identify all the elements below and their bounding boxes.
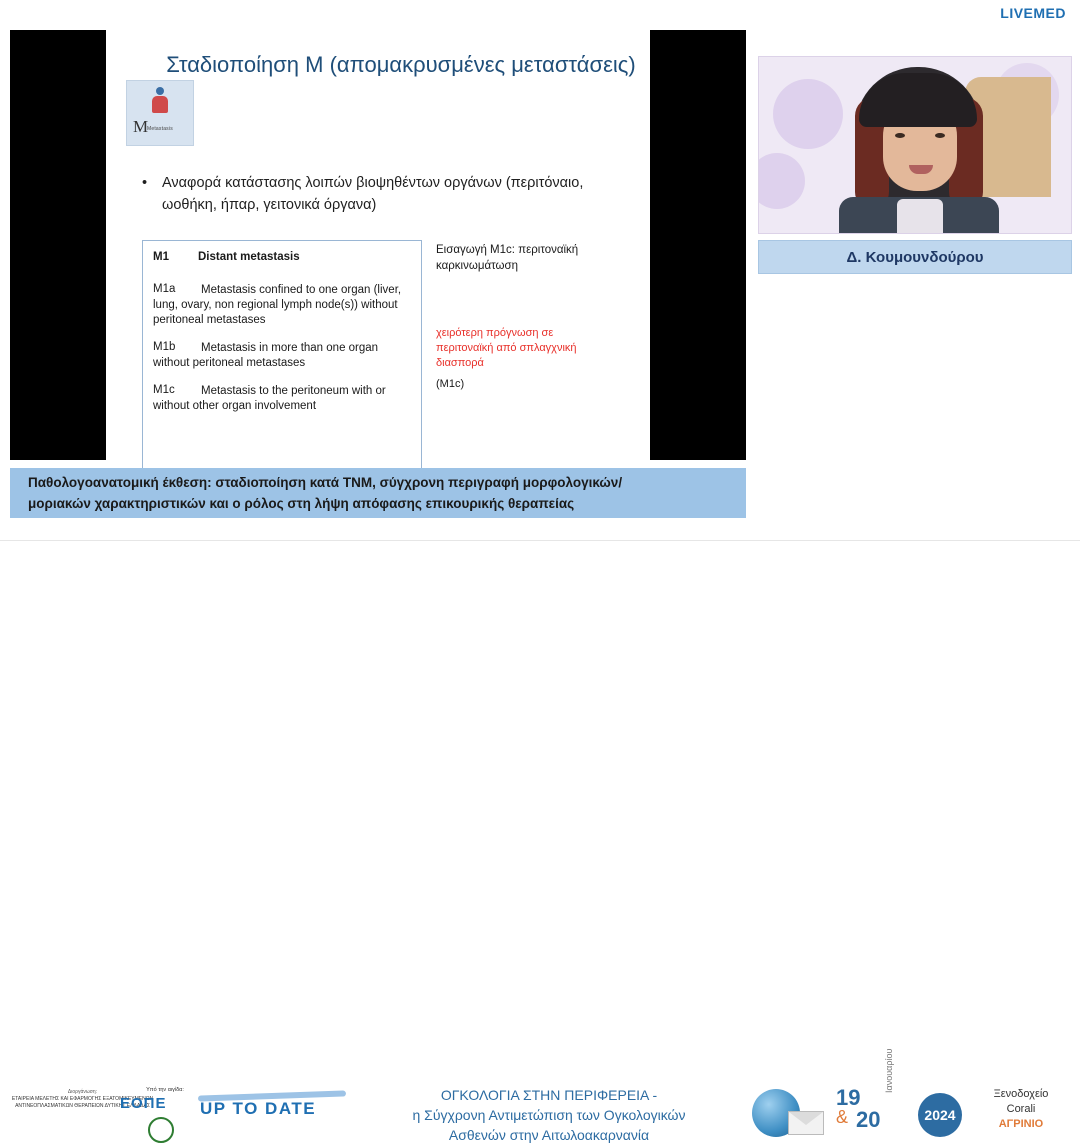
app-root: LIVEMED Σταδιοποίηση Μ (απομακρυσμένες μ…	[0, 0, 1080, 608]
top-bar: LIVEMED	[0, 0, 1080, 26]
row-text-m1b: Metastasis in more than one organ withou…	[153, 341, 411, 371]
badge-letter: M	[133, 117, 148, 137]
badge-sublabel: Metastasis	[147, 126, 173, 132]
slide-viewport: Σταδιοποίηση Μ (απομακρυσμένες μεταστάσε…	[10, 30, 746, 460]
event-brand: UP TO DATE	[200, 1099, 316, 1119]
metastasis-icon: M Metastasis	[126, 80, 194, 146]
sidenote-prognosis: χειρότερη πρόγνωση σε περιτοναϊκή από σπ…	[436, 326, 596, 371]
bullet-text: Αναφορά κατάστασης λοιπών βιοψηθέντων ορ…	[162, 172, 612, 216]
slide-content: Σταδιοποίηση Μ (απομακρυσμένες μεταστάσε…	[106, 30, 650, 460]
eope-logo: ΕΟΠΕ	[120, 1095, 167, 1112]
venue-line-1: Ξενοδοχείο	[968, 1087, 1074, 1102]
event-title-line-3: Ασθενών στην Αιτωλοακαρνανία	[356, 1125, 742, 1145]
event-title-line-2: η Σύγχρονη Αντιμετώπιση των Ογκολογικών	[356, 1105, 742, 1125]
venue-city: ΑΓΡΙΝΙΟ	[968, 1117, 1074, 1132]
aegis-seal-icon	[148, 1117, 174, 1143]
date-ampersand: &	[836, 1107, 848, 1128]
footer-bar: Διοργάνωση: ΕΤΑΙΡΕΙΑ ΜΕΛΕΤΗΣ ΚΑΙ ΕΦΑΡΜΟΓ…	[0, 540, 1080, 609]
venue-block: Ξενοδοχείο Corali ΑΓΡΙΝΙΟ	[968, 1087, 1074, 1132]
row-text-m1c: Metastasis to the peritoneum with or wit…	[153, 384, 411, 414]
event-title: ΟΓΚΟΛΟΓΙΑ ΣΤΗΝ ΠΕΡΙΦΕΡΕΙΑ - η Σύγχρονη Α…	[356, 1085, 742, 1145]
bullet-marker: •	[142, 172, 147, 194]
livemed-logo: LIVEMED	[1000, 5, 1066, 21]
table-header-text: Distant metastasis	[198, 251, 300, 263]
event-title-line-1: ΟΓΚΟΛΟΓΙΑ ΣΤΗΝ ΠΕΡΙΦΕΡΕΙΑ -	[356, 1085, 742, 1105]
session-caption: Παθολογοανατομική έκθεση: σταδιοποίηση κ…	[10, 468, 746, 518]
person-icon	[151, 87, 169, 117]
staging-table: M1 Distant metastasis M1a Metastasis con…	[142, 240, 422, 470]
date-day-to: 20	[856, 1107, 880, 1133]
speaker-name: Δ. Κουμουνδούρου	[846, 249, 983, 266]
table-header-code: M1	[153, 251, 169, 263]
venue-line-2: Corali	[968, 1102, 1074, 1117]
slide-bullet: • Αναφορά κατάστασης λοιπών βιοψηθέντων …	[142, 172, 612, 216]
speaker-video[interactable]	[758, 56, 1072, 234]
sidenote-tail: (M1c)	[436, 378, 596, 390]
date-month: Ιανουαρίου	[884, 1049, 894, 1093]
speaker-name-bar: Δ. Κουμουνδούρου	[758, 240, 1072, 274]
row-text-m1a: Metastasis confined to one organ (liver,…	[153, 283, 411, 328]
caption-line-1: Παθολογοανατομική έκθεση: σταδιοποίηση κ…	[28, 472, 746, 493]
date-year: 2024	[918, 1093, 962, 1137]
slide-title: Σταδιοποίηση Μ (απομακρυσμένες μεταστάσε…	[166, 50, 636, 80]
sidenote-intro: Εισαγωγή M1c: περιτοναϊκή καρκινωμάτωση	[436, 242, 596, 274]
aegis-label: Υπό την αιγίδα:	[120, 1087, 210, 1093]
caption-line-2: μοριακών χαρακτηριστικών και ο ρόλος στη…	[28, 493, 746, 514]
envelope-icon	[788, 1111, 824, 1135]
